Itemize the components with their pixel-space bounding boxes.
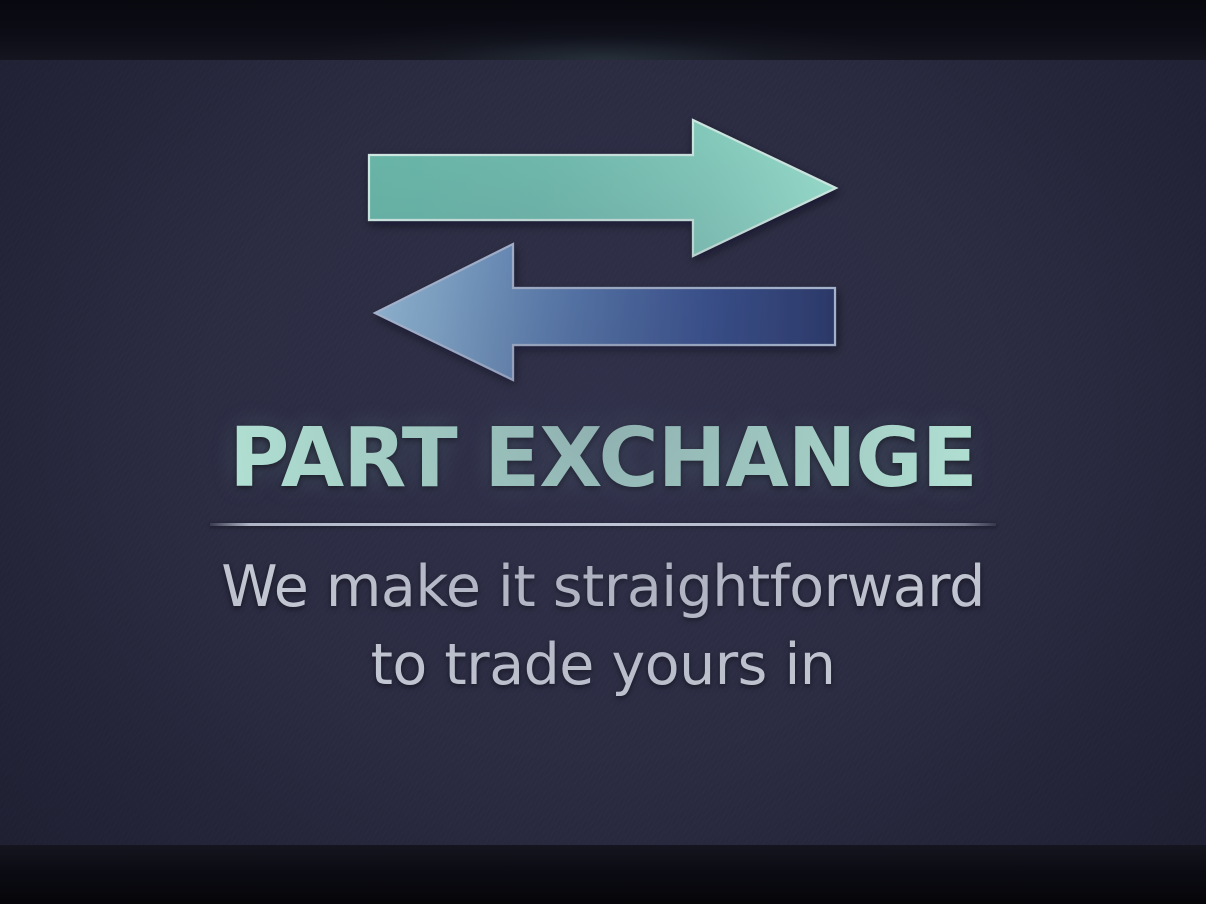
arrow-left-blue-icon: [375, 244, 835, 380]
slide-stage: PART EXCHANGE We make it straightforward…: [0, 0, 1206, 904]
slide-subtitle: We make it straightforward to trade your…: [0, 548, 1206, 704]
slide-subtitle-line-2: to trade yours in: [0, 626, 1206, 704]
title-divider: [210, 523, 996, 526]
slide-subtitle-line-1: We make it straightforward: [0, 548, 1206, 626]
arrow-right-green-icon: [369, 120, 836, 256]
page-title: PART EXCHANGE: [0, 414, 1206, 504]
